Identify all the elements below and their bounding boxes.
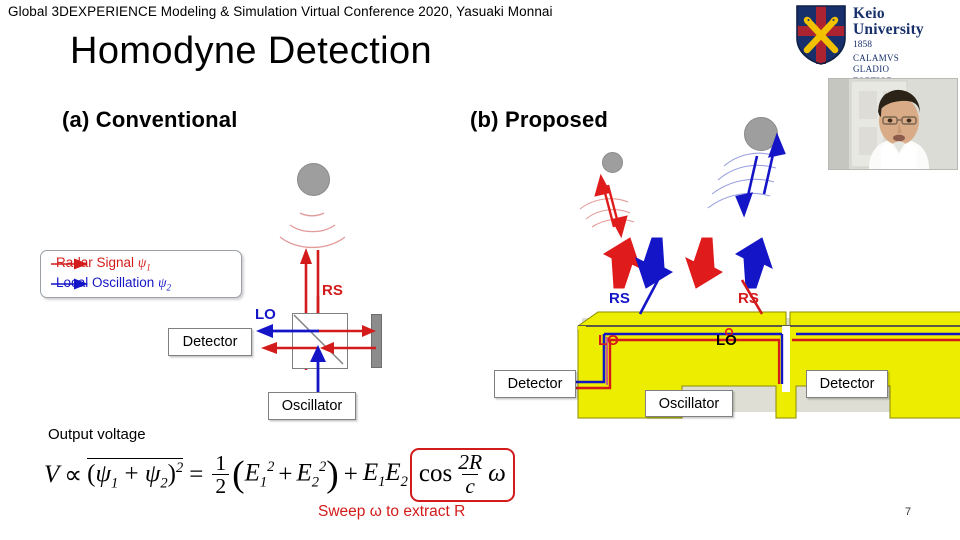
formula-equals: = bbox=[189, 461, 203, 489]
keio-name: Keio University bbox=[853, 6, 955, 37]
rs-label-conventional: RS bbox=[322, 282, 343, 299]
lo-label-right-proposed: LO bbox=[716, 332, 737, 349]
formula-proportional: ∝ bbox=[64, 460, 82, 490]
lo-beam-from-oscillator bbox=[300, 340, 340, 396]
legend-item-local-oscillation: Local Oscillation ψ2 bbox=[50, 274, 171, 294]
formula-2R-over-c: 2R c bbox=[455, 451, 485, 498]
lo-label-left-proposed: LO bbox=[598, 332, 619, 349]
formula-one-half: 1 2 bbox=[212, 452, 229, 499]
formula-plus-inner: + bbox=[278, 461, 292, 489]
legend-arrow-red-icon bbox=[50, 257, 92, 271]
section-heading-conventional: (a) Conventional bbox=[62, 107, 238, 133]
output-voltage-caption: Output voltage bbox=[48, 426, 146, 443]
sweep-note: Sweep ω to extract R bbox=[318, 503, 465, 521]
detector-box-conventional: Detector bbox=[168, 328, 252, 356]
presenter-webcam-video[interactable] bbox=[828, 78, 958, 170]
red-target-arrows-proposed bbox=[572, 165, 662, 245]
formula-cos: cos bbox=[419, 460, 452, 488]
homodyne-output-formula: V ∝ (ψ1 + ψ2)2 = 1 2 ( E12 + E22 ) + E1E… bbox=[44, 448, 515, 502]
formula-E1-sq: E12 bbox=[245, 459, 275, 491]
keio-shield-icon bbox=[795, 4, 847, 66]
formula-omega: ω bbox=[488, 460, 506, 488]
oscillator-box-proposed: Oscillator bbox=[645, 390, 733, 417]
keio-motto-line2: GLADIO bbox=[853, 64, 955, 75]
formula-V: V bbox=[44, 461, 59, 489]
lo-label-conventional: LO bbox=[255, 306, 276, 323]
rs-label-right-proposed: RS bbox=[738, 290, 759, 307]
formula-lparen: ( bbox=[232, 459, 245, 491]
blue-target-arrows-proposed bbox=[700, 128, 810, 238]
formula-E1E2: E1E2 bbox=[363, 459, 408, 491]
conference-header-text: Global 3DEXPERIENCE Modeling & Simulatio… bbox=[8, 4, 553, 19]
legend-box: Radar Signal ψ1 Local Oscillation ψ2 bbox=[40, 250, 242, 298]
page-title: Homodyne Detection bbox=[70, 30, 432, 73]
detector-box-right-proposed: Detector bbox=[806, 370, 888, 398]
formula-E2-sq: E22 bbox=[296, 459, 326, 491]
rs-label-left-proposed: RS bbox=[609, 290, 630, 307]
keio-year: 1858 bbox=[853, 40, 955, 50]
keio-motto-line1: CALAMVS bbox=[853, 53, 955, 64]
legend-item-radar-signal: Radar Signal ψ1 bbox=[50, 254, 151, 274]
keio-wordmark: Keio University 1858 CALAMVS GLADIO FORT… bbox=[853, 6, 955, 87]
formula-mean-square: (ψ1 + ψ2)2 bbox=[87, 458, 183, 492]
oscillator-box-conventional: Oscillator bbox=[268, 392, 356, 420]
formula-cosine-highlight-box: cos 2R c ω bbox=[410, 448, 515, 502]
formula-plus-outer: + bbox=[344, 461, 358, 489]
legend-arrow-blue-icon bbox=[50, 277, 92, 291]
section-heading-proposed: (b) Proposed bbox=[470, 107, 608, 133]
detector-box-left-proposed: Detector bbox=[494, 370, 576, 398]
keio-university-logo: Keio University 1858 CALAMVS GLADIO FORT… bbox=[795, 4, 955, 72]
page-number: 7 bbox=[905, 506, 911, 518]
formula-rparen: ) bbox=[326, 459, 339, 491]
